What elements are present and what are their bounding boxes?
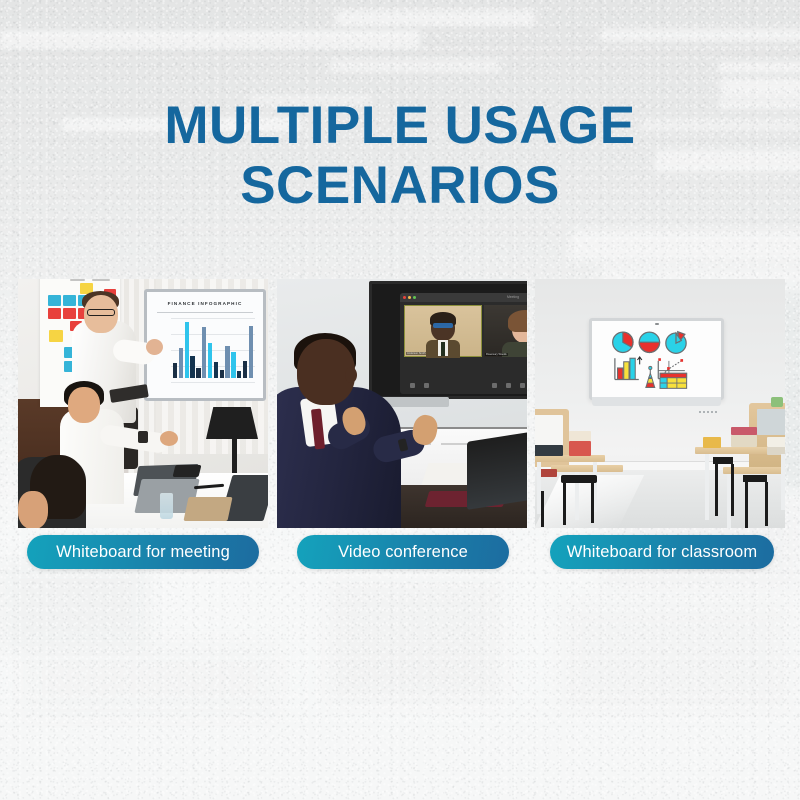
pill-video-conference[interactable]: Video conference — [297, 535, 509, 569]
pill-whiteboard-for-meeting[interactable]: Whiteboard for meeting — [27, 535, 259, 569]
pill-whiteboard-for-classroom[interactable]: Whiteboard for classroom — [550, 535, 774, 569]
scenario-label-row: Whiteboard for meeting Video conference … — [0, 0, 800, 800]
